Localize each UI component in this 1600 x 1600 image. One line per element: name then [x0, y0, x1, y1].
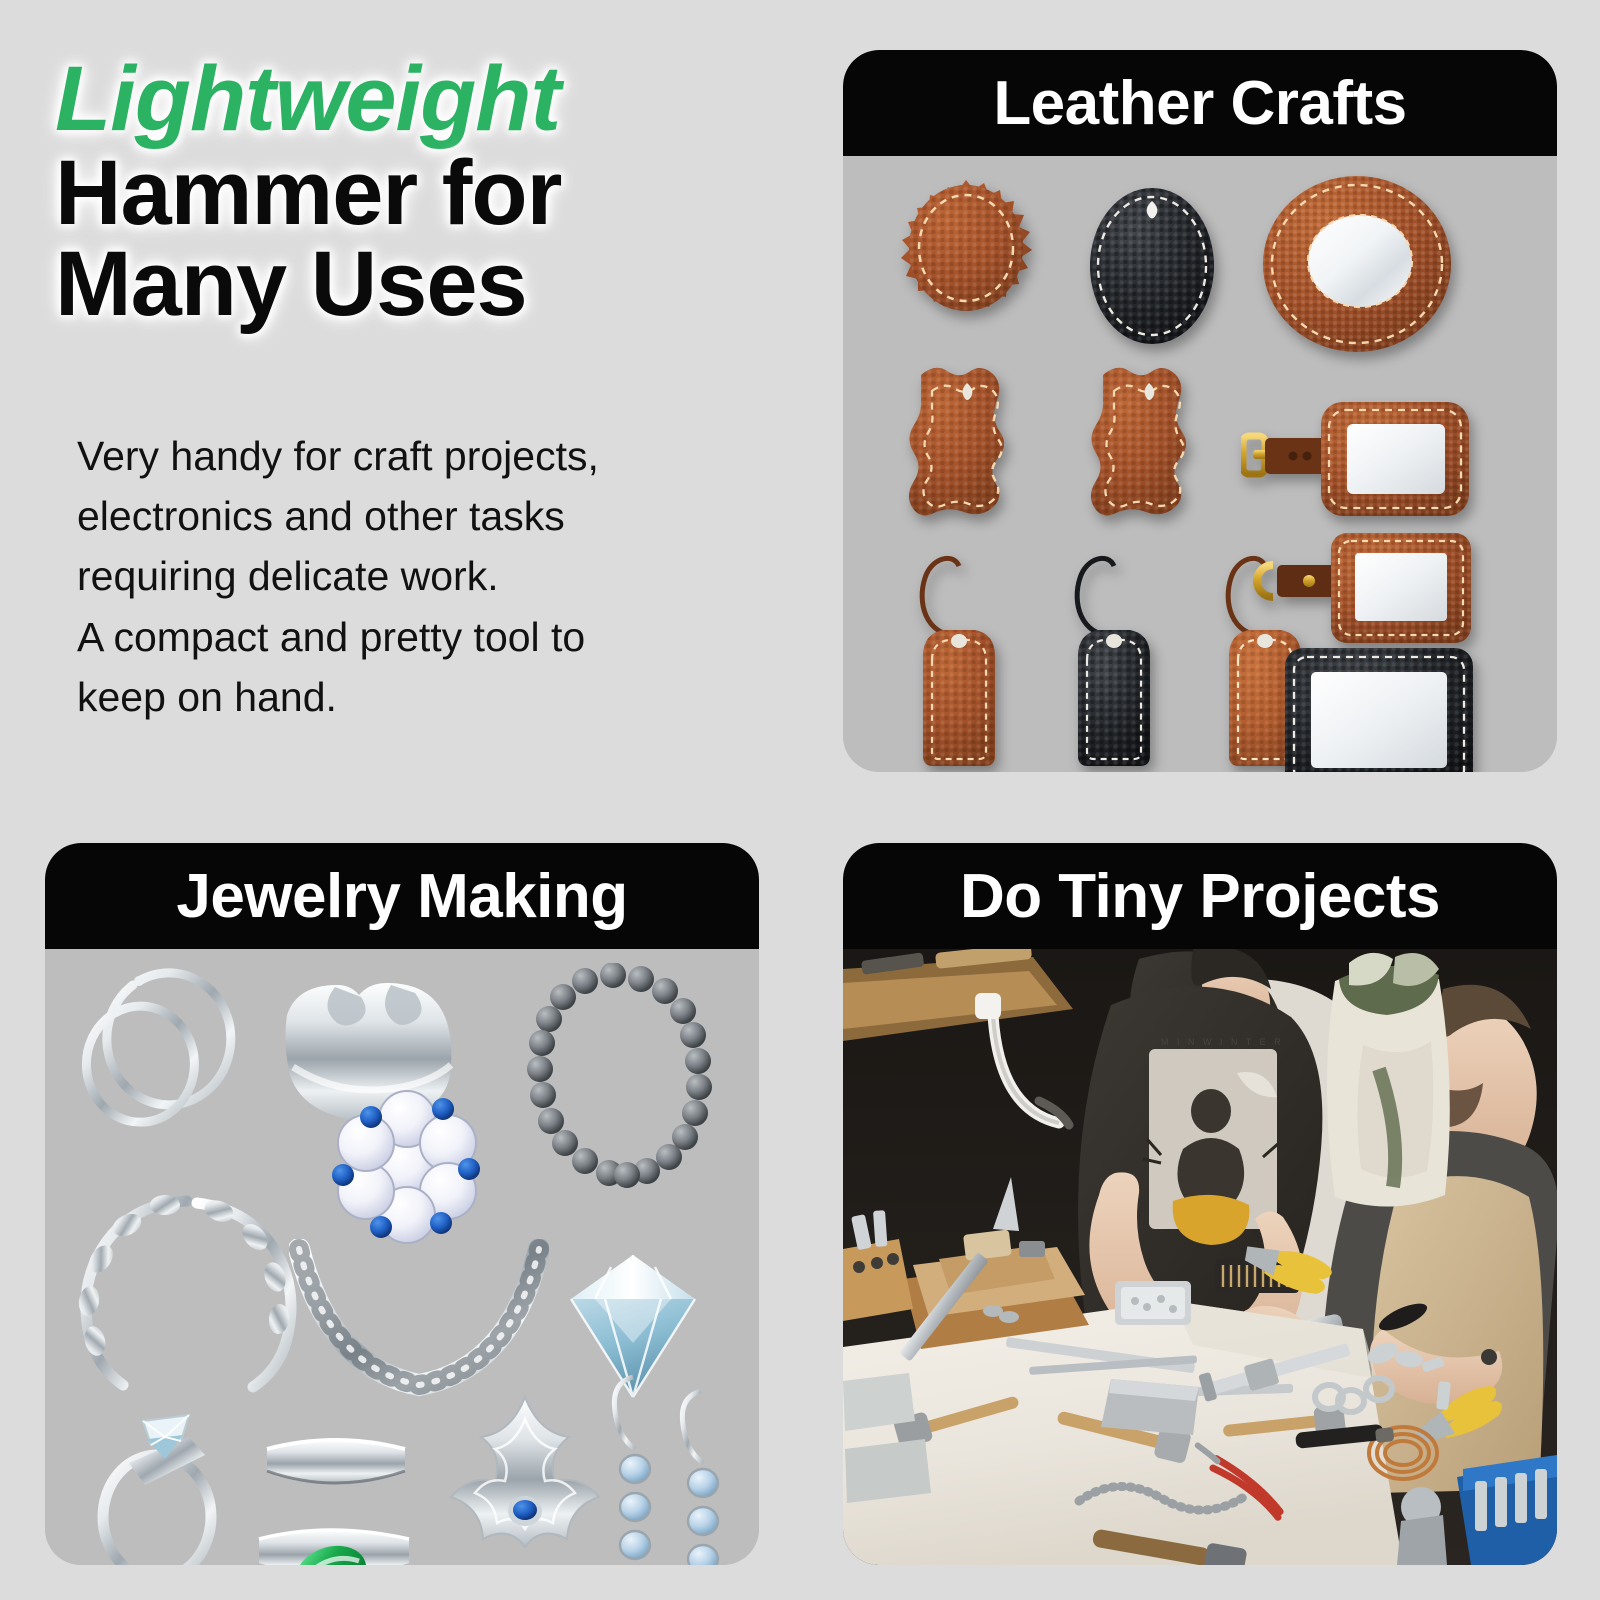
marquise-emerald-ring-icon: [255, 1517, 415, 1565]
hide-shaped-leather-tag-left-icon: [891, 361, 1043, 557]
headline-line-2: Hammer for: [55, 149, 795, 237]
sunburst-oval-leather-patch-icon: [891, 178, 1041, 350]
infographic-canvas: Lightweight Hammer for Many Uses Very ha…: [0, 0, 1600, 1600]
workshop-photo: M I N W I N T E R: [843, 949, 1557, 1565]
hoop-earrings-icon: [77, 963, 247, 1193]
page-title: Lightweight Hammer for Many Uses: [55, 55, 795, 328]
panel-title-jewelry: Jewelry Making: [176, 861, 627, 932]
chain-bracelet-icon: [69, 1189, 299, 1399]
panel-jewelry-making: Jewelry Making: [45, 843, 759, 1565]
plain-band-ring-icon: [261, 1431, 411, 1511]
panel-title-leather: Leather Crafts: [993, 68, 1406, 139]
solitaire-diamond-ring-icon: [85, 1397, 245, 1565]
body-line-3: requiring delicate work.: [77, 546, 795, 606]
intro-text-block: Lightweight Hammer for Many Uses Very ha…: [55, 55, 795, 727]
panel-title-projects: Do Tiny Projects: [960, 861, 1440, 932]
svg-text:M I N W I N T E R: M I N W I N T E R: [1161, 1037, 1284, 1047]
panel-header-projects: Do Tiny Projects: [843, 843, 1557, 949]
headline-line-3: Many Uses: [55, 240, 795, 328]
intro-body-copy: Very handy for craft projects, electroni…: [77, 426, 795, 727]
gem-cluster-flower-icon: [317, 1077, 497, 1257]
luggage-tag-black-icon: [1050, 544, 1178, 772]
panel-body-projects: M I N W I N T E R: [843, 949, 1557, 1565]
body-line-1: Very handy for craft projects,: [77, 426, 795, 486]
panel-body-jewelry: [45, 949, 759, 1565]
luggage-tag-brown-icon: [895, 544, 1023, 772]
star-pendant-icon: [425, 1389, 625, 1565]
body-line-5: keep on hand.: [77, 667, 795, 727]
panel-body-leather: [843, 156, 1557, 772]
buckle-strap-leather-photo-frame-icon: [1241, 398, 1473, 520]
rectangular-leather-photo-frame-black-icon: [1283, 646, 1475, 772]
pearl-necklace-icon: [515, 963, 715, 1225]
panel-leather-crafts: Leather Crafts: [843, 50, 1557, 772]
round-leather-mirror-frame-icon: [1261, 174, 1453, 354]
hide-shaped-leather-tag-right-icon: [1073, 361, 1225, 557]
drop-earrings-icon: [601, 1361, 751, 1565]
panel-do-tiny-projects: Do Tiny Projects: [843, 843, 1557, 1565]
keyring-strap-leather-frame-icon: [1243, 531, 1473, 659]
body-line-2: electronics and other tasks: [77, 486, 795, 546]
panel-header-leather: Leather Crafts: [843, 50, 1557, 156]
headline-line-1: Lightweight: [55, 55, 795, 143]
body-line-4: A compact and pretty tool to: [77, 607, 795, 667]
oval-leather-tag-black-icon: [1083, 184, 1221, 348]
panel-header-jewelry: Jewelry Making: [45, 843, 759, 949]
